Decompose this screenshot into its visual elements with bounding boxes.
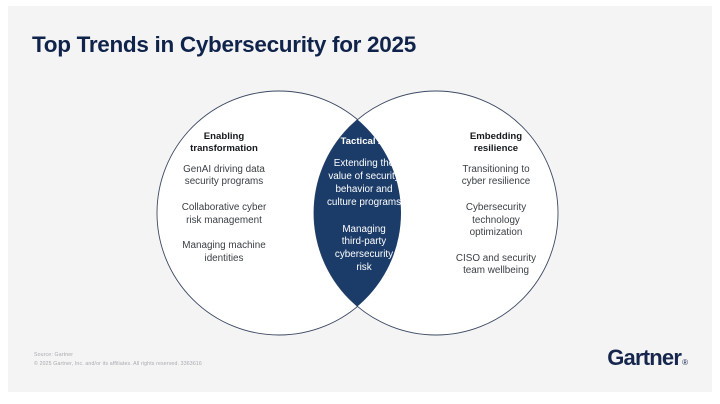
- venn-left-item-2: Collaborative cyber risk management: [154, 202, 294, 227]
- gartner-logo: Gartner ®: [607, 347, 688, 369]
- slide-canvas: Top Trends in Cybersecurity for 2025 Ena…: [8, 6, 712, 392]
- venn-right-heading: Embedding resilience: [426, 131, 566, 156]
- venn-right-item-1: Transitioning to cyber resilience: [426, 164, 566, 189]
- venn-right-item-3: CISO and security team wellbeing: [426, 253, 566, 278]
- venn-center-item-1: Extending the value of security behavior…: [305, 158, 423, 209]
- registered-trademark-icon: ®: [682, 358, 688, 367]
- venn-left-heading: Enabling transformation: [154, 131, 294, 156]
- footer-source: Source: Gartner: [34, 351, 73, 360]
- venn-left-item-1: GenAI driving data security programs: [154, 164, 294, 189]
- venn-right-group: Embedding resilience Transitioning to cy…: [426, 131, 566, 278]
- venn-right-item-2: Cybersecurity technology optimization: [426, 202, 566, 240]
- venn-center-heading: Tactical AI: [305, 136, 423, 148]
- venn-left-item-3: Managing machine identities: [154, 240, 294, 265]
- venn-left-group: Enabling transformation GenAI driving da…: [154, 131, 294, 265]
- venn-center-item-2: Managing third-party cybersecurity risk: [305, 224, 423, 275]
- gartner-logo-wordmark: Gartner: [607, 347, 681, 369]
- venn-center-group: Tactical AI Extending the value of secur…: [305, 136, 423, 289]
- venn-diagram: Enabling transformation GenAI driving da…: [8, 6, 712, 392]
- footer-copyright: © 2025 Gartner, Inc. and/or its affiliat…: [34, 360, 202, 369]
